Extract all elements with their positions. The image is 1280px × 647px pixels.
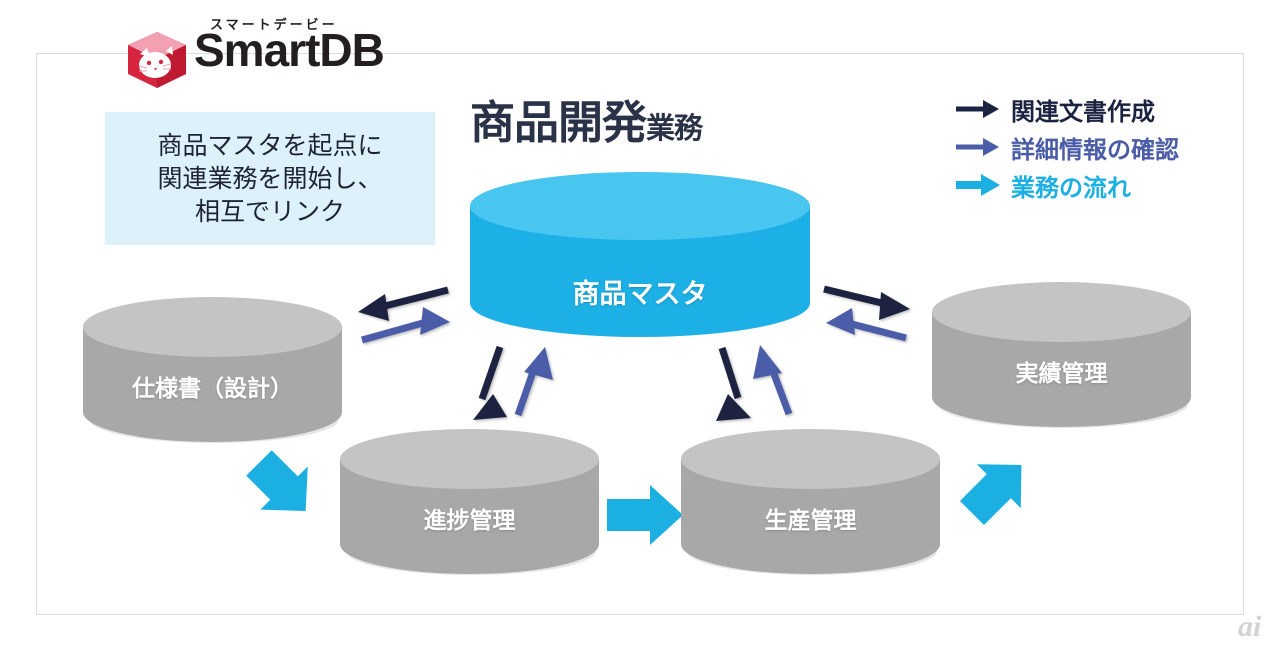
callout-line-3: 相互でリンク: [157, 195, 382, 228]
legend-label-detail: 詳細情報の確認: [1011, 130, 1179, 165]
node-spec[interactable]: 仕様書（設計）: [83, 297, 342, 444]
legend-item-flow: 業務の流れ: [955, 166, 1245, 204]
page-title-sub: 業務: [646, 105, 702, 147]
page-title-main: 商品開発: [470, 86, 646, 151]
legend-item-detail: 詳細情報の確認: [955, 128, 1245, 166]
callout-line-2: 関連業務を開始し、: [157, 162, 382, 195]
arrow-right-icon: [955, 135, 1001, 159]
smartdb-logo: スマートデービー: [126, 14, 406, 86]
arrow-right-thick-icon: [955, 173, 1001, 197]
legend-label-flow: 業務の流れ: [1011, 168, 1131, 203]
smartdb-cube-cat-icon: [126, 32, 188, 88]
watermark-logo: ai: [1238, 612, 1261, 642]
legend-item-document: 関連文書作成: [955, 90, 1245, 128]
node-production[interactable]: 生産管理: [681, 429, 940, 576]
logo-wordmark: SmartDB: [194, 27, 384, 73]
legend-label-document: 関連文書作成: [1011, 92, 1155, 127]
page-title: 商品開発 業務: [470, 86, 810, 151]
diagram-canvas: スマートデービー: [0, 0, 1280, 647]
arrow-right-icon: [955, 97, 1001, 121]
callout-line-1: 商品マスタを起点に: [157, 129, 382, 162]
callout-box: 商品マスタを起点に 関連業務を開始し、 相互でリンク: [105, 112, 435, 245]
node-master[interactable]: 商品マスタ: [470, 172, 810, 337]
callout-text: 商品マスタを起点に 関連業務を開始し、 相互でリンク: [157, 129, 382, 228]
node-results[interactable]: 実績管理: [932, 282, 1191, 429]
node-progress[interactable]: 進捗管理: [340, 429, 599, 576]
legend: 関連文書作成 詳細情報の確認 業務の流れ: [955, 90, 1245, 204]
